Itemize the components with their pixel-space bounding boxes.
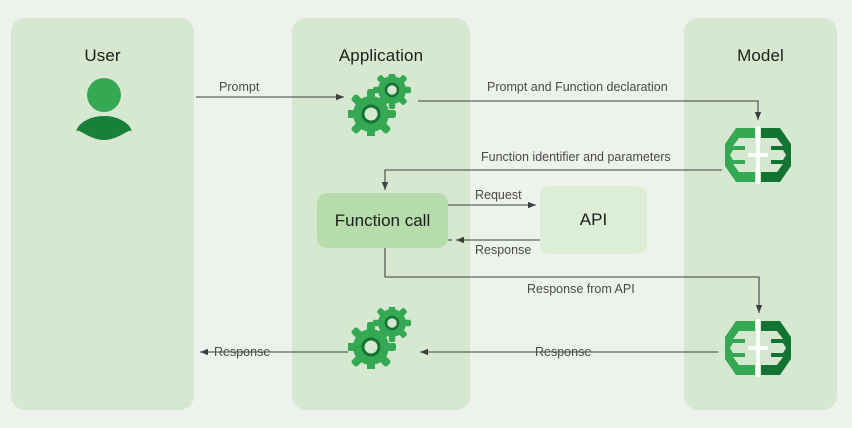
edge-label-response-api: Response [475, 243, 531, 257]
edge-label-response-model: Response [535, 345, 591, 359]
node-function-call[interactable]: Function call [317, 193, 448, 248]
brain-model-icon [722, 124, 794, 186]
edge-label-response-user: Response [214, 345, 270, 359]
gears-icon [348, 74, 414, 136]
edge-label-prompt-fn-decl: Prompt and Function declaration [487, 80, 668, 94]
edge-label-request: Request [475, 188, 522, 202]
node-api[interactable]: API [540, 186, 647, 254]
edge-response-from-api-line [385, 248, 759, 313]
edge-label-fn-ident-params: Function identifier and parameters [481, 150, 671, 164]
node-api-label: API [580, 210, 607, 230]
edge-prompt-fn-decl-line [418, 101, 758, 120]
node-function-call-label: Function call [335, 211, 430, 231]
edge-label-prompt: Prompt [219, 80, 259, 94]
user-avatar-icon [76, 78, 132, 140]
gears-icon [348, 307, 414, 369]
edge-label-response-from-api: Response from API [527, 282, 635, 296]
brain-model-icon [722, 317, 794, 379]
